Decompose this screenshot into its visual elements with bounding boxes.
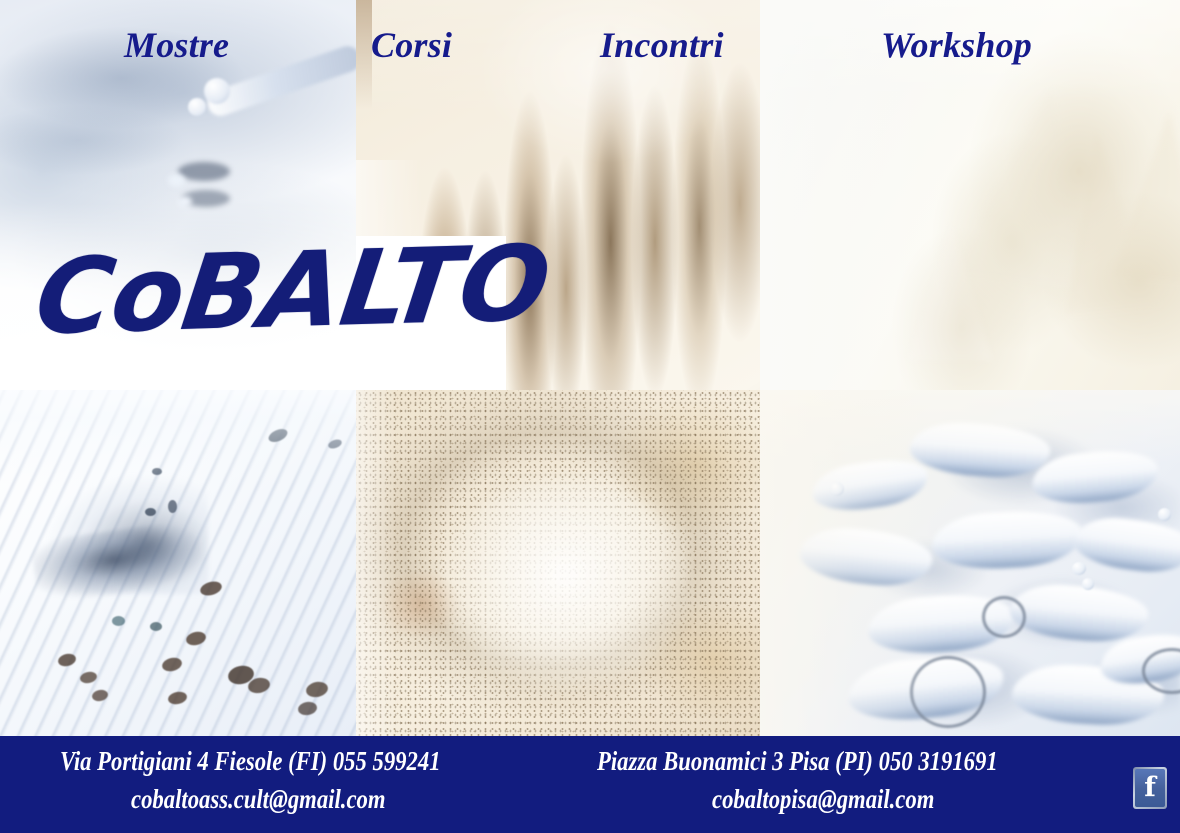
footer-address-pisa: Piazza Buonamici 3 Pisa (PI) 050 3191691 [597,746,998,777]
photo-layer-wash [356,390,760,736]
facebook-icon-face: f [1135,769,1165,807]
photo-grid [0,0,1180,736]
brand-logo: CoBALTO [30,231,555,349]
nav-item-mostre[interactable]: Mostre [124,27,229,63]
footer-bar: Via Portigiani 4 Fiesole (FI) 055 599241… [0,736,1180,833]
facebook-icon-glyph: f [1135,774,1165,801]
nav-item-incontri[interactable]: Incontri [600,27,724,63]
nav-item-workshop[interactable]: Workshop [881,27,1032,63]
photo-layer-wash [0,390,356,736]
cobalto-poster: Mostre Corsi Incontri Workshop CoBALTO V… [0,0,1180,833]
nav-item-corsi[interactable]: Corsi [371,27,452,63]
footer-address-fiesole: Via Portigiani 4 Fiesole (FI) 055 599241 [60,746,441,777]
footer-email-pisa[interactable]: cobaltopisa@gmail.com [712,784,934,815]
photo-detail-corner-shade [356,0,372,110]
photo-tile-crackle-glaze [356,390,760,736]
photo-layer-wash [760,390,1180,736]
photo-tile-ceramic-shards [760,390,1180,736]
photo-tile-striated-surface [0,390,356,736]
footer-email-fiesole[interactable]: cobaltoass.cult@gmail.com [131,784,385,815]
facebook-icon[interactable]: f [1133,767,1167,809]
